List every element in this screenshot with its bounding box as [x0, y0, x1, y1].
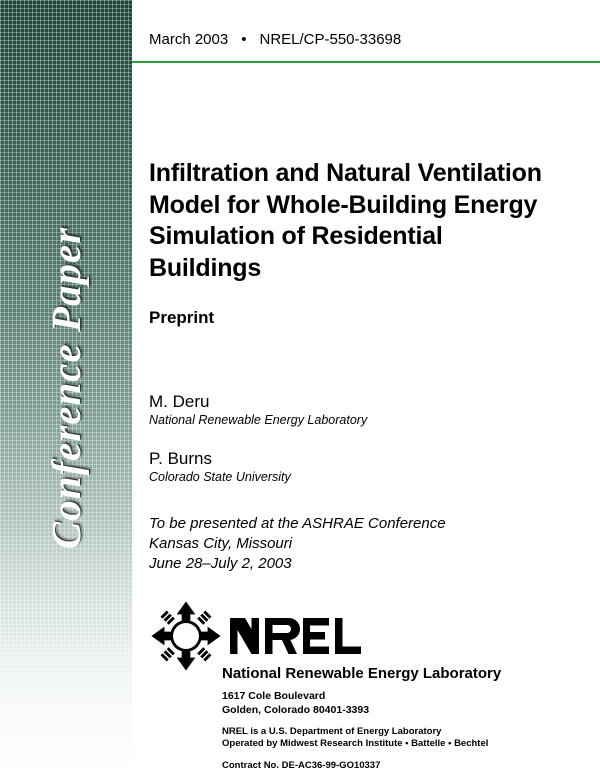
- conference-paper-side-band: Conference Paper: [0, 0, 132, 776]
- separator-bullet: •: [228, 31, 259, 48]
- operated-by-note: Operated by Midwest Research Institute •…: [222, 738, 582, 751]
- address-line-2: Golden, Colorado 80401-3393: [222, 703, 582, 717]
- page-title: Infiltration and Natural Ventilation Mod…: [149, 158, 549, 284]
- presentation-line-1: To be presented at the ASHRAE Conference: [149, 514, 549, 534]
- presentation-line-2: Kansas City, Missouri: [149, 534, 549, 554]
- address-line-1: 1617 Cole Boulevard: [222, 689, 582, 703]
- side-band-label: Conference Paper: [42, 227, 90, 549]
- address-group: 1617 Cole Boulevard Golden, Colorado 804…: [222, 689, 582, 718]
- header-green-rule: [132, 61, 600, 63]
- nrel-compass-logo-icon: [149, 600, 223, 672]
- organization-name: National Renewable Energy Laboratory: [222, 665, 582, 682]
- document-header: March 2003•NREL/CP-550-33698: [149, 31, 569, 48]
- author-entry: P. Burns Colorado State University: [149, 449, 549, 484]
- author-name: M. Deru: [149, 392, 549, 412]
- authors-block: M. Deru National Renewable Energy Labora…: [149, 392, 549, 574]
- page-subtitle: Preprint: [149, 308, 549, 328]
- logo-row: [149, 600, 569, 672]
- presentation-line-3: June 28–July 2, 2003: [149, 554, 549, 574]
- presentation-note: To be presented at the ASHRAE Conference…: [149, 514, 549, 574]
- author-spacer: [149, 427, 549, 449]
- author-affiliation: National Renewable Energy Laboratory: [149, 413, 549, 427]
- author-name: P. Burns: [149, 449, 549, 469]
- header-line: March 2003•NREL/CP-550-33698: [149, 31, 569, 48]
- title-block: Infiltration and Natural Ventilation Mod…: [149, 158, 549, 328]
- contract-number: Contract No. DE-AC36-99-GO10337: [222, 760, 582, 773]
- author-affiliation: Colorado State University: [149, 470, 549, 484]
- nrel-logo-block: [149, 600, 569, 672]
- report-number: NREL/CP-550-33698: [259, 31, 401, 48]
- doe-laboratory-note: NREL is a U.S. Department of Energy Labo…: [222, 726, 582, 739]
- lab-note-group: NREL is a U.S. Department of Energy Labo…: [222, 726, 582, 752]
- author-entry: M. Deru National Renewable Energy Labora…: [149, 392, 549, 427]
- nrel-wordmark: [229, 610, 369, 662]
- footer-block: National Renewable Energy Laboratory 161…: [222, 665, 582, 773]
- publication-date: March 2003: [149, 31, 228, 48]
